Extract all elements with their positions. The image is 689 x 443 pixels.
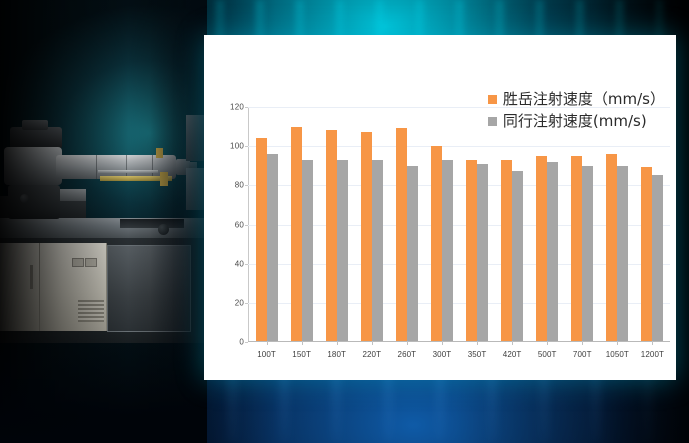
y-axis-tick-label: 100 [230, 142, 244, 151]
legend-item-series-1[interactable]: 胜岳注射速度（mm/s） [488, 92, 665, 107]
x-axis-tick-mark [337, 341, 338, 345]
bar-group [530, 107, 565, 341]
bar-series-1[interactable] [361, 132, 372, 341]
bar-series-2[interactable] [407, 166, 418, 342]
x-axis-tick-label: 220T [354, 350, 389, 359]
bar-series-2[interactable] [652, 175, 663, 341]
bar-series-2[interactable] [512, 171, 523, 341]
photo-bottom-fade [0, 333, 207, 443]
x-axis-tick-mark [512, 341, 513, 345]
y-axis-tick-mark [245, 107, 248, 108]
y-axis-tick-mark [245, 342, 248, 343]
y-axis-tick-mark [245, 264, 248, 265]
bar-group [565, 107, 600, 341]
bar-series-2[interactable] [302, 160, 313, 341]
x-axis-tick-mark [547, 341, 548, 345]
x-axis-tick-mark [652, 341, 653, 345]
x-axis-tick-label: 500T [530, 350, 565, 359]
y-axis-tick-mark [245, 185, 248, 186]
bar-series-2[interactable] [582, 166, 593, 342]
bar-chart: 胜岳注射速度（mm/s） 同行注射速度(mm/s) 02040608010012… [204, 35, 676, 380]
y-axis-tick-label: 60 [235, 220, 244, 229]
bar-series-1[interactable] [291, 127, 302, 342]
machine-photo [0, 0, 207, 443]
x-axis-tick-label: 420T [495, 350, 530, 359]
x-axis-tick-label: 700T [565, 350, 600, 359]
bar-group [354, 107, 389, 341]
bar-group [635, 107, 670, 341]
x-axis-tick-label: 1050T [600, 350, 635, 359]
x-axis-tick-label: 350T [459, 350, 494, 359]
slide-canvas: 胜岳注射速度（mm/s） 同行注射速度(mm/s) 02040608010012… [0, 0, 689, 443]
x-axis-tick-label: 260T [389, 350, 424, 359]
bar-series-1[interactable] [571, 156, 582, 341]
y-axis-tick-label: 120 [230, 103, 244, 112]
x-axis-tick-mark [477, 341, 478, 345]
x-axis-tick-mark [407, 341, 408, 345]
y-axis-tick-mark [245, 146, 248, 147]
bar-series-2[interactable] [442, 160, 453, 341]
bar-group [389, 107, 424, 341]
bar-group [459, 107, 494, 341]
bar-group [249, 107, 284, 341]
bar-series-2[interactable] [617, 166, 628, 342]
bar-series-2[interactable] [337, 160, 348, 341]
x-axis-tick-mark [372, 341, 373, 345]
y-axis-tick-label: 20 [235, 298, 244, 307]
x-axis-tick-mark [617, 341, 618, 345]
bar-series-1[interactable] [256, 138, 267, 341]
x-axis-line [248, 341, 670, 342]
y-axis-tick-label: 0 [239, 338, 244, 347]
bar-group [284, 107, 319, 341]
bar-series-1[interactable] [606, 154, 617, 341]
plot-area: 020406080100120 [248, 107, 670, 342]
x-axis-tick-mark [267, 341, 268, 345]
legend-label-series-1: 胜岳注射速度（mm/s） [503, 92, 665, 107]
bar-group [424, 107, 459, 341]
y-axis-tick-mark [245, 303, 248, 304]
bar-series-2[interactable] [477, 164, 488, 341]
bar-series-1[interactable] [501, 160, 512, 341]
bar-series-2[interactable] [372, 160, 383, 341]
bar-series-1[interactable] [641, 167, 652, 341]
bar-groups [249, 107, 670, 341]
bar-series-1[interactable] [431, 146, 442, 341]
x-axis-tick-label: 300T [424, 350, 459, 359]
y-axis-tick-label: 80 [235, 181, 244, 190]
bar-series-2[interactable] [547, 162, 558, 341]
bar-series-1[interactable] [466, 160, 477, 341]
x-axis-tick-label: 100T [249, 350, 284, 359]
x-axis-tick-label: 150T [284, 350, 319, 359]
x-axis-tick-mark [582, 341, 583, 345]
y-axis-tick-label: 40 [235, 259, 244, 268]
x-axis-tick-label: 1200T [635, 350, 670, 359]
bar-series-1[interactable] [326, 130, 337, 341]
chart-panel: 胜岳注射速度（mm/s） 同行注射速度(mm/s) 02040608010012… [204, 35, 676, 380]
bar-group [600, 107, 635, 341]
x-axis-tick-mark [442, 341, 443, 345]
bar-series-1[interactable] [536, 156, 547, 341]
legend-swatch-series-1 [488, 95, 497, 104]
bar-series-1[interactable] [396, 128, 407, 341]
x-axis-labels: 100T150T180T220T260T300T350T420T500T700T… [249, 350, 670, 359]
x-axis-tick-label: 180T [319, 350, 354, 359]
bar-group [319, 107, 354, 341]
x-axis-tick-mark [302, 341, 303, 345]
bar-group [495, 107, 530, 341]
bar-series-2[interactable] [267, 154, 278, 341]
y-axis-tick-mark [245, 225, 248, 226]
